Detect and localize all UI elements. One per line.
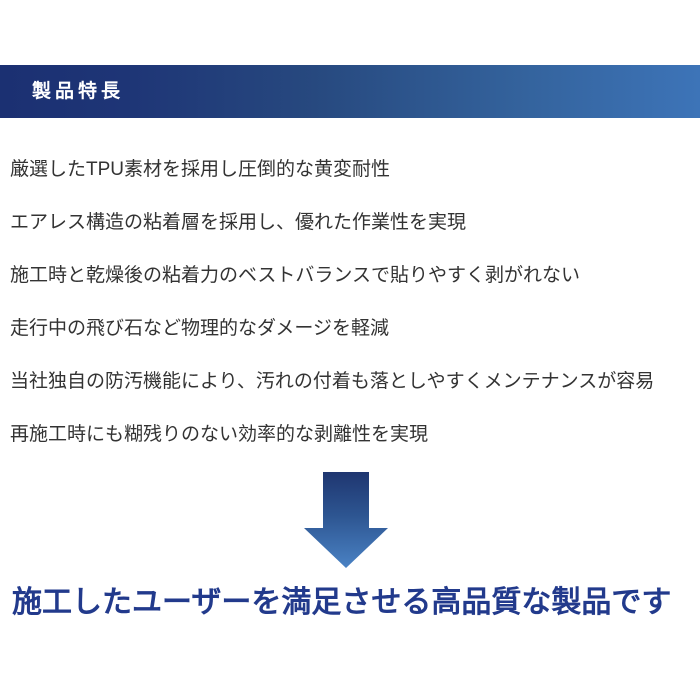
list-item: 再施工時にも糊残りのない効率的な剥離性を実現 xyxy=(10,408,700,461)
arrow-down-icon xyxy=(300,470,392,570)
section-header-bar: 製品特長 xyxy=(0,65,700,118)
list-item: 施工時と乾燥後の粘着力のベストバランスで貼りやすく剥がれない xyxy=(10,249,700,302)
conclusion-headline: 施工したユーザーを満足させる高品質な製品です xyxy=(12,581,700,625)
list-item: 当社独自の防汚機能により、汚れの付着も落としやすくメンテナンスが容易 xyxy=(10,355,700,408)
list-item: 走行中の飛び石など物理的なダメージを軽減 xyxy=(10,302,700,355)
feature-list: 厳選したTPU素材を採用し圧倒的な黄変耐性 エアレス構造の粘着層を採用し、優れた… xyxy=(10,143,700,461)
list-item: エアレス構造の粘着層を採用し、優れた作業性を実現 xyxy=(10,196,700,249)
page-title: 製品特長 xyxy=(32,82,124,101)
product-features-panel: 製品特長 厳選したTPU素材を採用し圧倒的な黄変耐性 エアレス構造の粘着層を採用… xyxy=(0,0,700,700)
list-item: 厳選したTPU素材を採用し圧倒的な黄変耐性 xyxy=(10,143,700,196)
